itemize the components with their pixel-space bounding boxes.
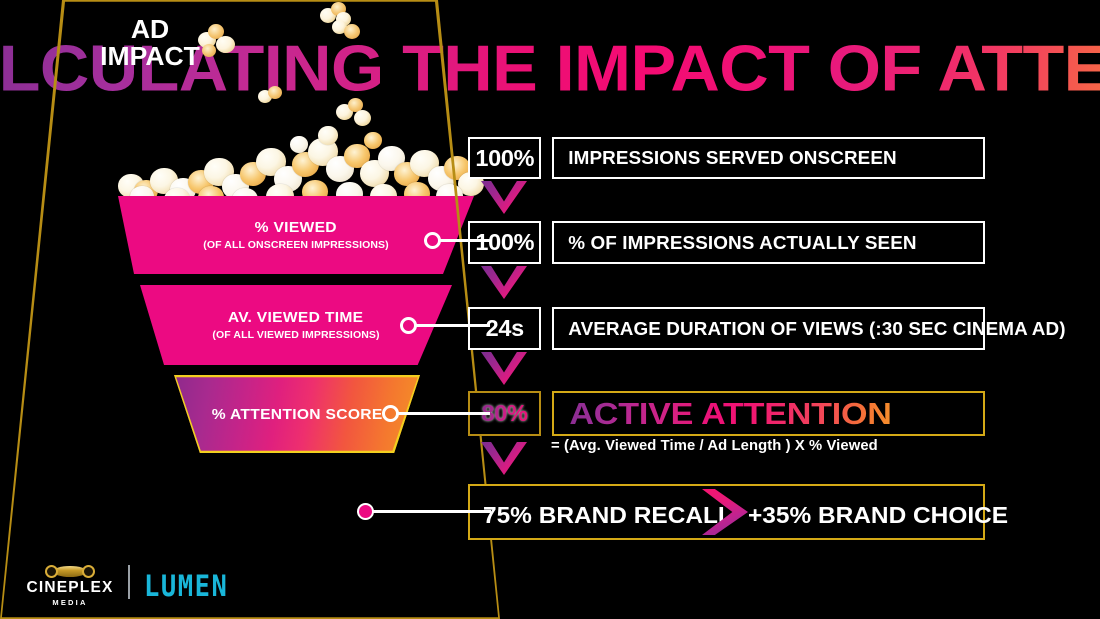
statement-impressions-served: IMPRESSIONS SERVED ONSCREEN bbox=[552, 137, 985, 179]
reel-ring-right bbox=[82, 565, 95, 578]
connector-ad-impact bbox=[357, 503, 487, 521]
connector-line bbox=[398, 412, 490, 415]
film-reel-icon bbox=[45, 565, 95, 578]
funnel-stage-subtitle: (OF ALL ONSCREEN IMPRESSIONS) bbox=[203, 239, 389, 251]
connector-viewed bbox=[424, 232, 484, 250]
cineplex-media-subtext: MEDIA bbox=[22, 598, 118, 607]
infographic-canvas: CALCULATING THE IMPACT OF ATTENTION bbox=[0, 0, 1100, 619]
statement-active-attention: ACTIVE ATTENTION bbox=[552, 391, 985, 436]
logo-divider bbox=[128, 565, 130, 599]
funnel-stage-viewed-time-label: AV. VIEWED TIME (OF ALL VIEWED IMPRESSIO… bbox=[212, 309, 379, 341]
attention-funnel: % VIEWED (OF ALL ONSCREEN IMPRESSIONS) A… bbox=[0, 0, 500, 619]
brand-choice-text: +35% BRAND CHOICE bbox=[748, 502, 1008, 529]
funnel-stage-viewed[interactable]: % VIEWED (OF ALL ONSCREEN IMPRESSIONS) bbox=[118, 196, 474, 274]
badge-value: 24s bbox=[485, 315, 523, 342]
connector-ring-icon bbox=[382, 405, 399, 422]
badge-impressions-served: 100% bbox=[468, 137, 541, 179]
statement-text: % OF IMPRESSIONS ACTUALLY SEEN bbox=[554, 232, 917, 254]
connector-attention-score bbox=[382, 405, 486, 423]
connector-line bbox=[440, 239, 492, 242]
statement-impressions-seen: % OF IMPRESSIONS ACTUALLY SEEN bbox=[552, 221, 985, 264]
ad-impact-line-2: IMPACT bbox=[0, 43, 303, 69]
brand-recall-text: 75% BRAND RECALL bbox=[483, 502, 733, 529]
lumen-logo: LUMEN bbox=[144, 569, 228, 603]
cineplex-media-logo: CINEPLEX MEDIA bbox=[22, 565, 118, 607]
ad-impact-line-1: AD bbox=[0, 16, 303, 42]
connector-line bbox=[373, 510, 491, 513]
funnel-stage-title: AV. VIEWED TIME bbox=[209, 309, 383, 326]
connector-line bbox=[416, 324, 490, 327]
statement-avg-duration: AVERAGE DURATION OF VIEWS (:30 SEC CINEM… bbox=[552, 307, 985, 350]
connector-viewed-time bbox=[400, 317, 486, 335]
statement-text: IMPRESSIONS SERVED ONSCREEN bbox=[554, 147, 897, 169]
popcorn-mound-icon bbox=[112, 118, 484, 198]
logo-bar: CINEPLEX MEDIA LUMEN bbox=[16, 563, 246, 611]
connector-dot-icon bbox=[357, 503, 374, 520]
funnel-stage-subtitle: (OF ALL VIEWED IMPRESSIONS) bbox=[212, 329, 379, 341]
badge-value: 100% bbox=[475, 145, 534, 172]
connector-ring-icon bbox=[424, 232, 441, 249]
funnel-stage-ad-impact-label: AD IMPACT bbox=[0, 16, 303, 69]
cineplex-wordmark: CINEPLEX bbox=[22, 580, 118, 596]
connector-ring-icon bbox=[400, 317, 417, 334]
funnel-stage-ad-impact[interactable]: AD IMPACT bbox=[0, 0, 300, 86]
statement-text: ACTIVE ATTENTION bbox=[554, 396, 892, 432]
attention-formula: = (Avg. Viewed Time / Ad Length ) X % Vi… bbox=[551, 438, 878, 454]
funnel-stage-title: % VIEWED bbox=[200, 219, 393, 236]
funnel-stage-viewed-label: % VIEWED (OF ALL ONSCREEN IMPRESSIONS) bbox=[203, 219, 389, 251]
reel-ring-left bbox=[45, 565, 58, 578]
statement-text: AVERAGE DURATION OF VIEWS (:30 SEC CINEM… bbox=[554, 318, 1066, 340]
